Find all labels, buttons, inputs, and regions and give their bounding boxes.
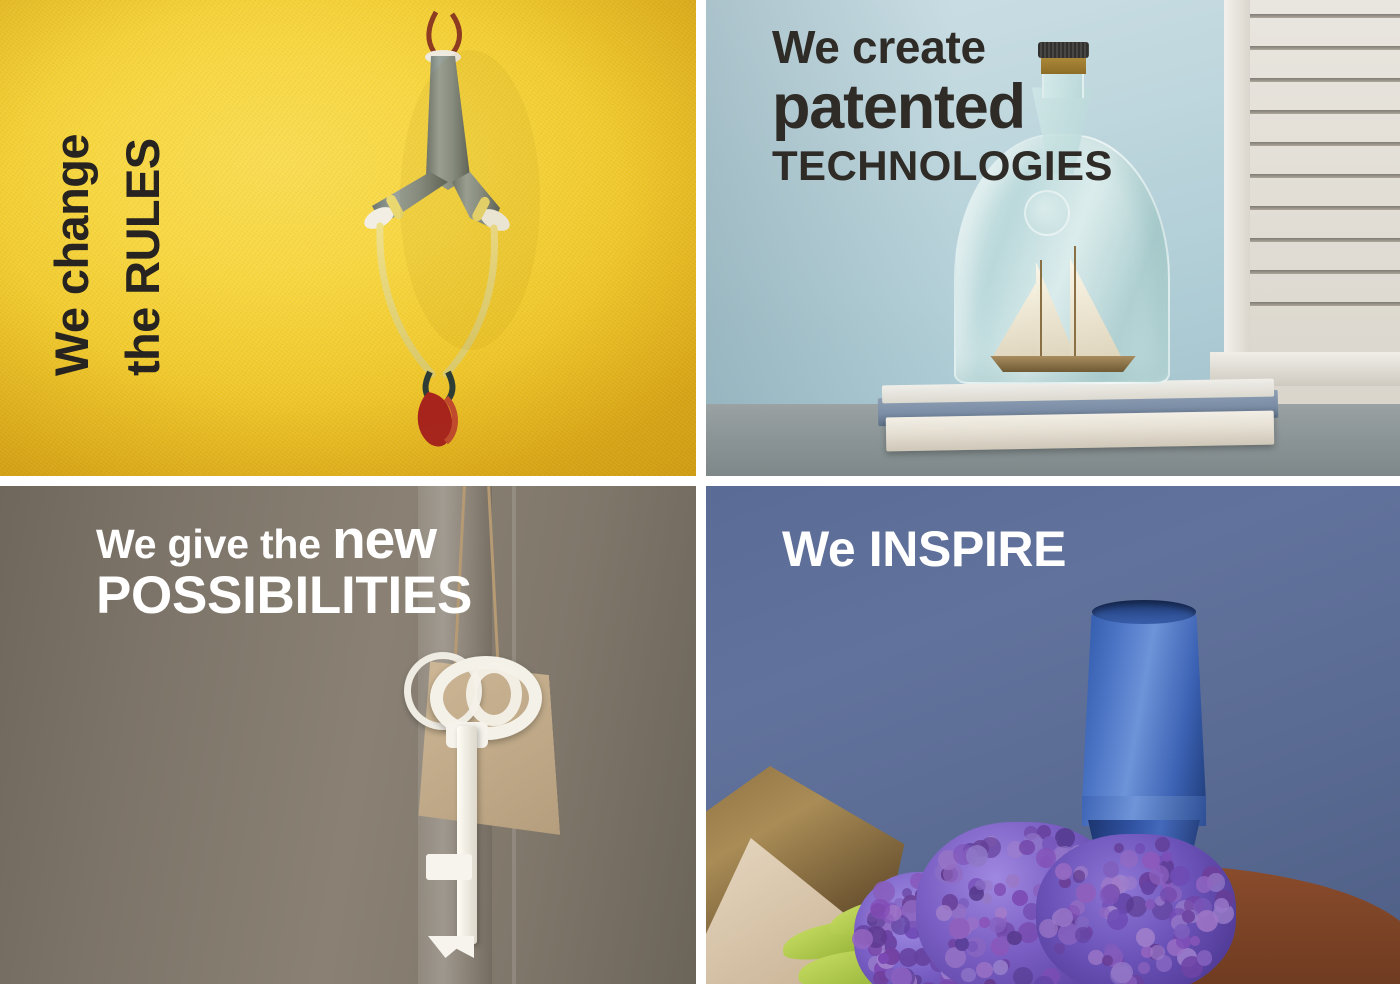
panel4-headline-line1: We INSPIRE [782, 524, 1066, 574]
panel-patented-technologies[interactable]: We create patented TECHNOLOGIES [706, 0, 1400, 476]
panel-new-possibilities[interactable]: We give the new POSSIBILITIES [0, 486, 696, 984]
panel3-headline: We give the new POSSIBILITIES [96, 512, 472, 622]
panel1-headline-line2: the RULES [115, 139, 170, 376]
panel4-headline: We INSPIRE [782, 524, 1066, 574]
hyacinth-bloom-right [1036, 834, 1236, 984]
image-collage: We change the RULES [0, 0, 1400, 984]
panel-change-rules[interactable]: We change the RULES [0, 0, 696, 476]
model-sailboat [978, 242, 1148, 372]
book-white [886, 411, 1275, 452]
key-bit [426, 854, 472, 880]
panel3-headline-emphasis: new [332, 508, 436, 570]
panel2-headline-line2: patented [772, 76, 1113, 139]
key-shaft [457, 726, 477, 944]
panel3-headline-line2: POSSIBILITIES [96, 569, 472, 622]
key-bow-inner [466, 662, 522, 726]
panel-inspire[interactable]: We INSPIRE [706, 486, 1400, 984]
panel2-headline-line3: TECHNOLOGIES [772, 145, 1113, 187]
bottle-embossed-seal [1024, 190, 1070, 236]
panel2-headline-line1: We create [772, 24, 1113, 70]
panel3-headline-line1: We give the new [96, 512, 472, 567]
panel2-headline: We create patented TECHNOLOGIES [772, 24, 1113, 187]
panel1-vignette [0, 0, 696, 476]
panel1-headline-line1: We change [44, 134, 99, 376]
panel3-headline-lead: We give the [96, 521, 332, 567]
